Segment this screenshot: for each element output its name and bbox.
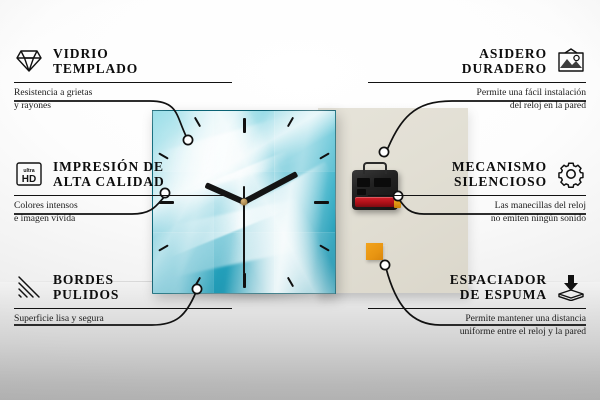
hour-marker xyxy=(287,116,294,127)
svg-text:HD: HD xyxy=(22,174,36,185)
desc-line-1: Resistencia a grietas xyxy=(14,87,232,100)
hour-marker xyxy=(287,277,294,288)
feature-asidero-duradero: ASIDERO DURADERO Permite una fácil insta… xyxy=(368,46,586,113)
desc-line-1: Superficie lisa y segura xyxy=(14,313,232,326)
hour-marker xyxy=(243,118,246,133)
feature-title-vidrio: VIDRIO TEMPLADO xyxy=(53,46,138,77)
title-line-1: MECANISMO xyxy=(452,159,547,174)
ultra-hd-badge-icon: ultra HD xyxy=(14,159,44,189)
second-hand xyxy=(243,202,245,274)
title-line-2: DURADERO xyxy=(462,61,547,76)
feature-vidrio-templado: VIDRIO TEMPLADO Resistencia a grietas y … xyxy=(14,46,232,113)
foam-spacer xyxy=(366,243,383,260)
feature-title-impresion: IMPRESIÓN DE ALTA CALIDAD xyxy=(53,159,165,190)
feature-title-mecanismo: MECANISMO SILENCIOSO xyxy=(452,159,547,190)
hour-marker xyxy=(319,245,330,252)
feature-desc-bordes: Superficie lisa y segura xyxy=(14,313,232,326)
title-line-1: IMPRESIÓN DE xyxy=(53,159,164,174)
desc-line-2: e imagen vívida xyxy=(14,213,232,226)
hour-marker xyxy=(243,273,246,288)
title-line-1: ESPACIADOR xyxy=(450,272,547,287)
divider xyxy=(368,195,586,196)
divider xyxy=(368,82,586,83)
divider xyxy=(14,82,232,83)
minute-hand xyxy=(243,171,299,204)
desc-line-1: Permite una fácil instalación xyxy=(368,87,586,100)
gear-icon xyxy=(556,159,586,189)
desc-line-2: no emiten ningún sonido xyxy=(368,213,586,226)
hour-marker xyxy=(194,116,201,127)
feature-desc-impresion: Colores intensos e imagen vívida xyxy=(14,200,232,226)
title-line-1: BORDES xyxy=(53,272,114,287)
divider xyxy=(14,195,232,196)
title-line-1: ASIDERO xyxy=(479,46,547,61)
title-line-2: ALTA CALIDAD xyxy=(53,174,165,189)
hour-marker xyxy=(158,245,169,252)
divider xyxy=(14,308,232,309)
clock-center-cap xyxy=(241,199,248,206)
feature-desc-espaciador: Permite mantener una distancia uniforme … xyxy=(368,313,586,339)
feature-title-espaciador: ESPACIADOR DE ESPUMA xyxy=(450,272,547,303)
feature-desc-asidero: Permite una fácil instalación del reloj … xyxy=(368,87,586,113)
feature-desc-mecanismo: Las manecillas del reloj no emiten ningú… xyxy=(368,200,586,226)
desc-line-1: Colores intensos xyxy=(14,200,232,213)
foam-spacer-side xyxy=(383,245,388,262)
desc-line-2: del reloj en la pared xyxy=(368,100,586,113)
title-line-2: DE ESPUMA xyxy=(460,287,547,302)
hour-marker xyxy=(319,152,330,159)
diamond-icon xyxy=(14,46,44,76)
divider xyxy=(368,308,586,309)
movement-slot xyxy=(357,189,366,195)
infographic-canvas: VIDRIO TEMPLADO Resistencia a grietas y … xyxy=(0,0,600,400)
feature-desc-vidrio: Resistencia a grietas y rayones xyxy=(14,87,232,113)
feature-title-asidero: ASIDERO DURADERO xyxy=(462,46,547,77)
title-line-1: VIDRIO xyxy=(53,46,109,61)
foam-spacer-arrow-icon xyxy=(556,272,586,302)
title-line-2: SILENCIOSO xyxy=(454,174,547,189)
desc-line-1: Las manecillas del reloj xyxy=(368,200,586,213)
desc-line-1: Permite mantener una distancia xyxy=(368,313,586,326)
desc-line-2: uniforme entre el reloj y la pared xyxy=(368,326,586,339)
feature-espaciador-de-espuma: ESPACIADOR DE ESPUMA Permite mantener un… xyxy=(368,272,586,339)
framed-picture-hanger-icon xyxy=(556,46,586,76)
title-line-2: TEMPLADO xyxy=(53,61,138,76)
hour-marker xyxy=(314,201,329,204)
polished-edges-icon xyxy=(14,272,44,302)
title-line-2: PULIDOS xyxy=(53,287,119,302)
desc-line-2: y rayones xyxy=(14,100,232,113)
feature-bordes-pulidos: BORDES PULIDOS Superficie lisa y segura xyxy=(14,272,232,326)
feature-impresion-alta-calidad: ultra HD IMPRESIÓN DE ALTA CALIDAD Color… xyxy=(14,159,232,226)
feature-mecanismo-silencioso: MECANISMO SILENCIOSO Las manecillas del … xyxy=(368,159,586,226)
feature-title-bordes: BORDES PULIDOS xyxy=(53,272,119,303)
